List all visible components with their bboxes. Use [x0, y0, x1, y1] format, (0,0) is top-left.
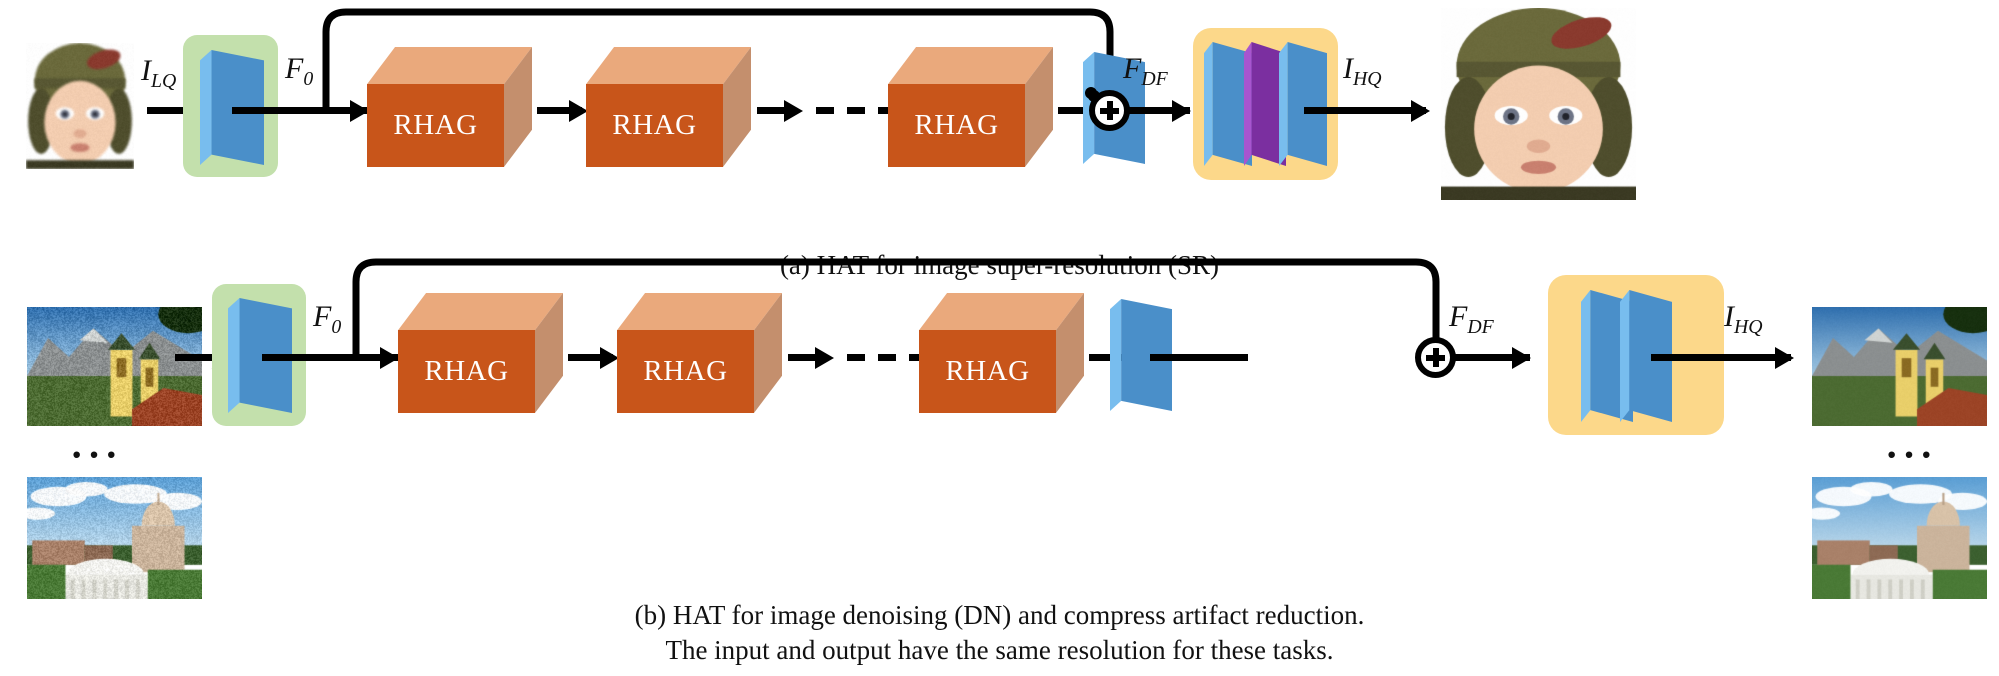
rhag-block-b-1: RHAG: [398, 293, 563, 413]
arrowhead-output-a: [1411, 100, 1430, 122]
rhag-label: RHAG: [586, 84, 723, 167]
input-label-a: ILQ: [141, 54, 176, 93]
add-node-a: [1089, 90, 1130, 131]
arrowhead-ellipsis-a: [784, 100, 803, 122]
rhag-block-a-1: RHAG: [367, 47, 532, 167]
arrowhead-output-b: [1775, 347, 1794, 369]
arrowhead-to-rhag-b-1: [380, 347, 399, 369]
rhag-label: RHAG: [367, 84, 504, 167]
input-ellipsis-b: ···: [70, 435, 122, 475]
rhag-label: RHAG: [617, 330, 754, 413]
rhag-block-b-3: RHAG: [919, 293, 1084, 413]
output-ellipsis-b: ···: [1885, 435, 1937, 475]
rhag-label: RHAG: [919, 330, 1056, 413]
shallow-feature-label-b: F0: [313, 300, 341, 339]
output-image-b-1: [1812, 477, 1987, 599]
dashed-ellipsis-a: [816, 107, 888, 114]
arrow-recon-to-output-b: [1651, 354, 1791, 361]
input-image-a-0: [26, 43, 134, 169]
rhag-block-a-3: RHAG: [888, 47, 1053, 167]
output-image-a-0: [1441, 8, 1636, 200]
deep-feature-label-a: FDF: [1123, 52, 1168, 91]
arrow-recon-to-output-a: [1304, 107, 1426, 114]
caption-b-line-2: The input and output have the same resol…: [0, 633, 1999, 668]
shallow-feature-label-a: F0: [285, 52, 313, 91]
input-image-b-1: [27, 477, 202, 599]
output-image-b-0: [1812, 307, 1987, 426]
recon-conv-slab-a-2: [1279, 42, 1327, 166]
output-label-b: IHQ: [1724, 300, 1763, 339]
output-label-a: IHQ: [1343, 52, 1382, 91]
add-node-b: [1415, 337, 1456, 378]
caption-b: (b) HAT for image denoising (DN) and com…: [0, 598, 1999, 667]
arrowhead-recon-a: [1172, 100, 1191, 122]
deep-feature-label-b: FDF: [1449, 300, 1494, 339]
arrowhead-recon-b: [1512, 347, 1531, 369]
rhag-label: RHAG: [398, 330, 535, 413]
input-image-b-0: [27, 307, 202, 426]
rhag-label: RHAG: [888, 84, 1025, 167]
dashed-ellipsis-b: [847, 354, 919, 361]
rhag-block-b-2: RHAG: [617, 293, 782, 413]
caption-b-line-1: (b) HAT for image denoising (DN) and com…: [0, 598, 1999, 633]
arrowhead-ellipsis-b: [815, 347, 834, 369]
figure-canvas: ILQ F0 RHAG RHAG: [0, 0, 1999, 676]
arrow-conv-to-add-b: [1150, 354, 1248, 361]
rhag-block-a-2: RHAG: [586, 47, 751, 167]
